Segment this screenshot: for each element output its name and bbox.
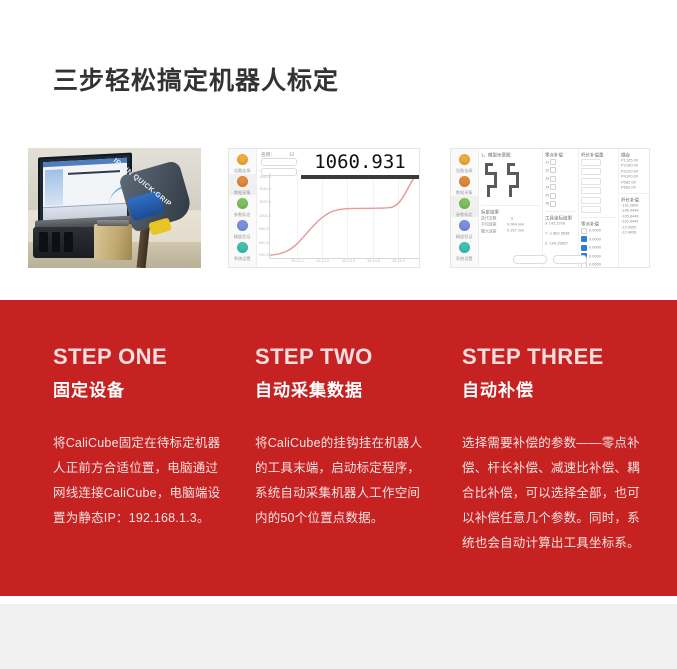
comp-row: -145.4448 (621, 209, 649, 212)
tool-value: Y -1.862 5838 (545, 231, 569, 236)
comp-value: -12.4036 (621, 230, 636, 235)
robot-link (494, 175, 497, 185)
laptop-ui-curve (69, 170, 121, 175)
step-one-description: 将CaliCube固定在待标定机器人正前方合适位置，电脑通过网线连接CaliCu… (53, 431, 225, 531)
clamp-yellow-grip (148, 218, 172, 236)
compensation-action-buttons (513, 255, 543, 264)
comp-value: -12.0055 (621, 225, 636, 230)
calibration-result-panel: 标定结果 迭代次数 5 平均误差 0.064 mm 最大误差 (481, 205, 540, 233)
comp-value: 0.0000 (589, 254, 601, 259)
param-row: J5 (545, 193, 576, 199)
sidebar-item-label: 系统设置 (234, 255, 251, 261)
comp-row: 0.0000 (581, 245, 616, 251)
sidebar-item-accuracy-verification[interactable]: 精度验证 (229, 218, 256, 239)
zero-point-header: 零点补偿 (545, 152, 579, 158)
result-row: 迭代次数 5 (481, 216, 540, 220)
zero-point-comp-header: 零点补偿 (581, 221, 619, 227)
steps-band: STEP ONE 固定设备 将CaliCube固定在待标定机器人正前方合适位置，… (0, 300, 677, 596)
chart-ytick: 1060.0 (259, 175, 271, 180)
step-column-three: STEP THREE 自动补偿 选择需要补偿的参数——零点补偿、杆长补偿、减速比… (462, 345, 642, 556)
result-value: 0.157 mm (507, 229, 524, 234)
accuracy-verification-icon (459, 220, 470, 231)
param-row: P2180.00 (621, 164, 649, 167)
compensation-grid: 1、模型示意图 (479, 149, 649, 267)
sidebar-item-data-acquisition[interactable]: 数据采集 (229, 174, 256, 195)
tool-row: Z -104.29627 (545, 242, 576, 245)
param-input[interactable] (581, 187, 601, 194)
sidebar-item-label: 精度验证 (456, 233, 473, 239)
param-row (581, 159, 616, 166)
comp-checkbox[interactable] (581, 236, 587, 242)
chart-xtick: 10:11.0 (291, 259, 304, 264)
step-two-description: 将CaliCube的挂钩挂在机器人的工具末端，启动标定程序，系统自动采集机器人工… (255, 431, 427, 531)
comp-value: -116.3800 (621, 203, 638, 208)
param-row (581, 206, 616, 213)
sidebar-item-accuracy-verification[interactable]: 精度验证 (451, 218, 478, 239)
result-label: 最大误差 (481, 228, 497, 234)
step-column-one: STEP ONE 固定设备 将CaliCube固定在待标定机器人正前方合适位置，… (53, 345, 225, 531)
sidebar-item-label: 精度验证 (234, 233, 251, 239)
comp-value: -145.4448 (621, 209, 639, 214)
param-row: P3120.00 (621, 170, 649, 173)
result-label: 平均误差 (481, 221, 497, 227)
sidebar-item-system-settings[interactable]: 系统设置 (451, 240, 478, 261)
coupling-cell: 耦合 P1125.00 P2180.00 P3120.00 P4100.00 P… (619, 149, 649, 267)
gallery-image-photo[interactable]: IRWIN QUICK-GRIP (28, 148, 201, 268)
chart-xtick: 10:12.0 (316, 259, 329, 264)
sidebar-item-label: 设备连接 (456, 167, 473, 173)
chart-ytick: 1040.0 (259, 187, 271, 192)
comp-row: -12.4036 (621, 231, 649, 234)
step-three-chinese-title: 自动补偿 (462, 376, 642, 401)
acquisition-app-window: 设备连接 数据采集 参数标定 精度验证 系统设置 (228, 148, 420, 268)
param-checkbox[interactable] (550, 167, 556, 173)
param-row: J6 (545, 201, 576, 207)
comp-value: 0.0000 (589, 237, 601, 242)
page-title: 三步轻松搞定机器人标定 (53, 61, 339, 97)
chart-xtick: 10:15.0 (392, 259, 405, 264)
robot-model-diagram (481, 159, 527, 201)
comp-value: -105.6449 (621, 214, 639, 219)
chart-ytick: 1020.0 (259, 200, 271, 205)
robot-link (509, 188, 512, 197)
step-three-description: 选择需要补偿的参数——零点补偿、杆长补偿、减速比补偿、耦合比补偿，可以选择全部，… (462, 431, 642, 556)
param-row (581, 197, 616, 204)
step-three-english-title: STEP THREE (462, 345, 642, 369)
acquisition-main-area: 名称： 12 1060.931 (257, 149, 419, 267)
step-one-english-title: STEP ONE (53, 345, 225, 369)
param-row: P4100.00 (621, 175, 649, 178)
chart-ytick: 980.0 (259, 227, 269, 232)
compensation-main-area: 1、模型示意图 (479, 149, 649, 267)
param-input[interactable] (581, 197, 601, 204)
sidebar-item-parameter-calibration[interactable]: 参数标定 (229, 196, 256, 217)
tool-row: Y -1.862 5838 (545, 232, 576, 235)
data-acquisition-icon (237, 176, 248, 187)
gallery-image-acquisition[interactable]: 设备连接 数据采集 参数标定 精度验证 系统设置 (228, 148, 420, 268)
sidebar-item-label: 参数标定 (234, 211, 251, 217)
tool-coordinate-header: 工具坐标结果 (545, 215, 579, 221)
comp-row: -116.3800 (621, 204, 649, 207)
sidebar-item-label: 设备连接 (234, 167, 251, 173)
comp-row: -105.6449 (621, 215, 649, 218)
result-value: 5 (511, 216, 513, 221)
comp-row: 0.0000 (581, 236, 616, 242)
sidebar-item-label: 系统设置 (456, 255, 473, 261)
result-row: 平均误差 0.064 mm (481, 222, 540, 226)
chart-ytick: 1000.0 (259, 214, 271, 219)
param-row (581, 187, 616, 194)
calicube-cap (97, 220, 129, 226)
step-two-chinese-title: 自动采集数据 (255, 376, 427, 401)
case-slot (52, 232, 61, 251)
param-input[interactable] (581, 168, 601, 175)
zero-point-cell: 零点补偿 J1 J2 J3 J4 J5 J6 工具坐标结果 X 142.1378… (543, 149, 579, 267)
param-row: J1 (545, 159, 576, 165)
sidebar-item-label: 数据采集 (234, 189, 251, 195)
bottom-panel (0, 604, 677, 669)
sidebar-item-label: 参数标定 (456, 211, 473, 217)
param-input[interactable] (581, 178, 601, 185)
chart-ytick: 960.0 (259, 241, 269, 246)
sidebar-item-device-connect[interactable]: 设备连接 (229, 152, 256, 173)
photo-laptop-calicube: IRWIN QUICK-GRIP (28, 148, 201, 268)
case-slot (39, 232, 48, 251)
sidebar-item-system-settings[interactable]: 系统设置 (229, 240, 256, 261)
acquisition-sidebar: 设备连接 数据采集 参数标定 精度验证 系统设置 (229, 149, 257, 267)
calicube-device (94, 224, 132, 260)
laptop-ui-left-panel (45, 169, 63, 206)
comp-value: 0.0000 (589, 229, 601, 234)
link-length-comp-panel: 杆长补偿 -116.3800 -145.4448 -105.6449 -116.… (621, 193, 649, 234)
result-row: 最大误差 0.157 mm (481, 229, 540, 233)
param-input[interactable] (581, 159, 601, 166)
model-diagram-header: 1、模型示意图 (481, 152, 543, 158)
accuracy-verification-icon (237, 220, 248, 231)
comp-value: -116.4449 (621, 219, 638, 224)
sidebar-item-label: 数据采集 (456, 189, 473, 195)
param-row (581, 178, 616, 185)
chart-xtick: 10:14.0 (367, 259, 380, 264)
tool-coordinate-panel: 工具坐标结果 X 142.1378 Y -1.862 5838 Z -104.2… (545, 211, 576, 245)
param-row: J3 (545, 176, 576, 182)
param-checkbox[interactable] (550, 193, 556, 199)
tool-value: Z -104.29627 (545, 241, 568, 246)
result-value: 0.064 mm (507, 222, 524, 227)
chart-xtick: 10:13.0 (342, 259, 355, 264)
comp-checkbox[interactable] (581, 245, 587, 251)
param-row: P1125.00 (621, 159, 649, 162)
acquisition-chart: 1060.0 1040.0 1020.0 1000.0 980.0 960.0 … (269, 173, 419, 259)
measurement-readout-bar (301, 175, 419, 179)
param-checkbox[interactable] (550, 184, 556, 190)
comp-row: 0.0000 (581, 228, 616, 234)
link-length-cell: 杆长补偿量 零点补偿 0.0000 0.0000 0.0000 0.0000 (579, 149, 619, 267)
parameter-calibration-icon (237, 198, 248, 209)
comp-row: -116.4449 (621, 220, 649, 223)
comp-row: -12.0055 (621, 226, 649, 229)
system-settings-icon (459, 242, 470, 253)
device-connect-icon (459, 154, 470, 165)
acquisition-name-label: 名称： (261, 150, 275, 158)
gallery: IRWIN QUICK-GRIP 设备连接 数据采集 参数标定 (0, 148, 677, 268)
step-one-chinese-title: 固定设备 (53, 376, 225, 401)
comp-value: 0.0000 (589, 245, 601, 250)
param-row: P582.00 (621, 181, 649, 184)
start-acquisition-button[interactable] (261, 158, 297, 166)
comp-value: 0.0000 (589, 262, 601, 267)
step-two-english-title: STEP TWO (255, 345, 427, 369)
link-length-comp-header: 杆长补偿 (621, 197, 649, 203)
param-checkbox[interactable] (550, 176, 556, 182)
robot-link (487, 188, 490, 197)
chart-ytick: 940.0 (259, 253, 269, 258)
system-settings-icon (237, 242, 248, 253)
device-connect-icon (237, 154, 248, 165)
case-slot (64, 232, 73, 251)
data-acquisition-icon (459, 176, 470, 187)
chart-series-curve (270, 173, 419, 258)
tool-row: X 142.1378 (545, 222, 576, 225)
param-row: P682.00 (621, 186, 649, 189)
param-row: J2 (545, 167, 576, 173)
compensation-app-window: 设备连接 数据采集 参数标定 精度验证 系统设置 (450, 148, 650, 268)
robot-link (516, 175, 519, 185)
model-diagram-cell: 1、模型示意图 (479, 149, 543, 267)
comp-checkbox[interactable] (581, 228, 587, 234)
param-row: J4 (545, 184, 576, 190)
sidebar-item-data-acquisition[interactable]: 数据采集 (451, 174, 478, 195)
gallery-image-compensation[interactable]: 设备连接 数据采集 参数标定 精度验证 系统设置 (450, 148, 650, 268)
link-length-header: 杆长补偿量 (581, 152, 619, 158)
measurement-readout-value: 1060.931 (314, 151, 406, 173)
param-input[interactable] (581, 206, 601, 213)
param-checkbox[interactable] (550, 159, 556, 165)
acquisition-name-value: 12 (289, 151, 294, 157)
compensation-sidebar: 设备连接 数据采集 参数标定 精度验证 系统设置 (451, 149, 479, 267)
parameter-calibration-icon (459, 198, 470, 209)
param-row (581, 168, 616, 175)
sidebar-item-parameter-calibration[interactable]: 参数标定 (451, 196, 478, 217)
coupling-header: 耦合 (621, 152, 649, 158)
start-calibration-button[interactable] (513, 255, 543, 264)
measurement-readout: 1060.931 (301, 149, 419, 175)
param-checkbox[interactable] (550, 201, 556, 207)
tool-value: X 142.1378 (545, 221, 565, 226)
step-column-two: STEP TWO 自动采集数据 将CaliCube的挂钩挂在机器人的工具末端，启… (255, 345, 427, 531)
sidebar-item-device-connect[interactable]: 设备连接 (451, 152, 478, 173)
